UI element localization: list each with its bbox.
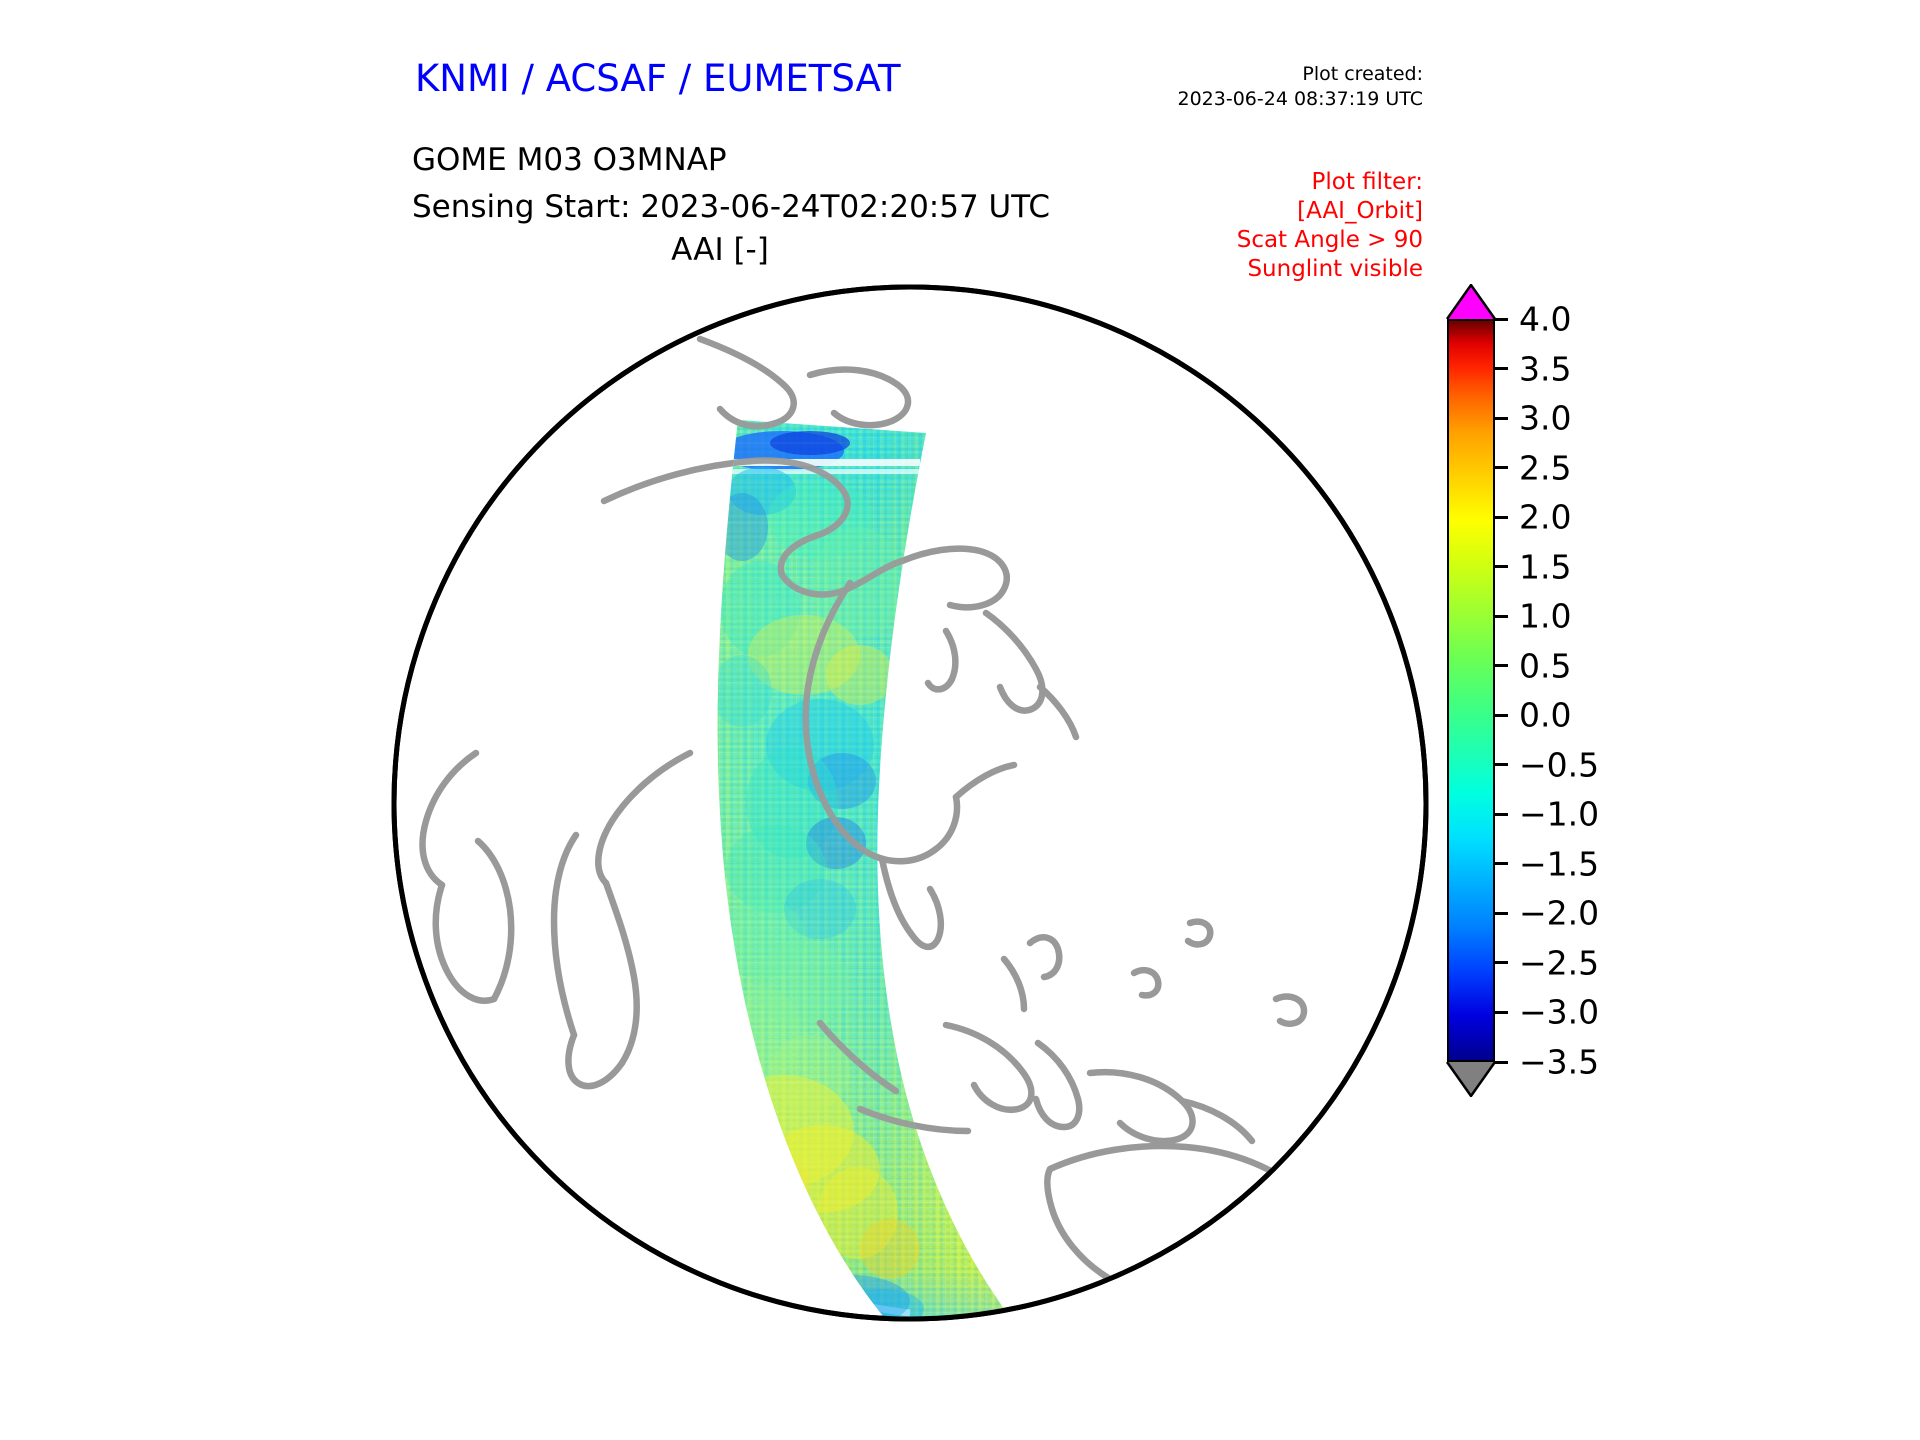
colorbar-tick: [1495, 961, 1508, 964]
colorbar-tick: [1495, 516, 1508, 519]
colorbar-over-arrow-outline: [1446, 284, 1496, 320]
colorbar-tick-label: 0.0: [1519, 696, 1571, 735]
colorbar-tick: [1495, 417, 1508, 420]
colorbar-tick: [1495, 912, 1508, 915]
colorbar-tick-label: 1.5: [1519, 547, 1571, 586]
colorbar-tick: [1495, 466, 1508, 469]
colorbar-tick-label: 3.5: [1519, 349, 1571, 388]
colorbar-tick-label: −1.5: [1519, 844, 1599, 883]
colorbar-tick: [1495, 714, 1508, 717]
globe-map: [390, 283, 1430, 1323]
sensing-start-text: Sensing Start: 2023-06-24T02:20:57 UTC: [412, 189, 1050, 225]
colorbar-tick: [1495, 1061, 1508, 1064]
colorbar-tick: [1495, 763, 1508, 766]
colorbar-tick: [1495, 862, 1508, 865]
colorbar-tick: [1495, 615, 1508, 618]
colorbar-gradient: [1447, 319, 1495, 1062]
organisation-title: KNMI / ACSAF / EUMETSAT: [415, 57, 901, 100]
colorbar-tick: [1495, 367, 1508, 370]
colorbar-tick-label: 4.0: [1519, 300, 1571, 339]
plot-created-timestamp: 2023-06-24 08:37:19 UTC: [1178, 87, 1424, 112]
plot-filter-block: Plot filter: [AAI_Orbit] Scat Angle > 90…: [1237, 168, 1423, 284]
colorbar-tick-label: −2.0: [1519, 894, 1599, 933]
colorbar-tick-label: 2.0: [1519, 498, 1571, 537]
colorbar-tick-label: 3.0: [1519, 399, 1571, 438]
colorbar-tick: [1495, 664, 1508, 667]
colorbar: 4.03.53.02.52.01.51.00.50.0−0.5−1.0−1.5−…: [1447, 285, 1647, 1295]
product-title: GOME M03 O3MNAP: [412, 142, 727, 178]
plot-created-label: Plot created:: [1178, 62, 1424, 87]
colorbar-tick-label: −3.0: [1519, 993, 1599, 1032]
colorbar-tick: [1495, 318, 1508, 321]
colorbar-tick-label: −1.0: [1519, 795, 1599, 834]
colorbar-under-arrow-outline: [1446, 1061, 1496, 1097]
colorbar-tick-label: 2.5: [1519, 448, 1571, 487]
colorbar-tick-label: −0.5: [1519, 745, 1599, 784]
colorbar-tick-label: −3.5: [1519, 1043, 1599, 1082]
colorbar-tick: [1495, 1011, 1508, 1014]
plot-filter-line-0: Plot filter:: [1237, 168, 1423, 197]
plot-filter-line-3: Sunglint visible: [1237, 255, 1423, 284]
colorbar-tick: [1495, 565, 1508, 568]
globe-svg: [390, 283, 1430, 1323]
plot-created-block: Plot created: 2023-06-24 08:37:19 UTC: [1178, 62, 1424, 112]
plot-filter-line-2: Scat Angle > 90: [1237, 226, 1423, 255]
colorbar-tick-label: −2.5: [1519, 943, 1599, 982]
colorbar-tick-label: 0.5: [1519, 646, 1571, 685]
page-title: AAI [-]: [0, 232, 1440, 268]
colorbar-tick-label: 1.0: [1519, 597, 1571, 636]
colorbar-tick: [1495, 813, 1508, 816]
plot-filter-line-1: [AAI_Orbit]: [1237, 197, 1423, 226]
